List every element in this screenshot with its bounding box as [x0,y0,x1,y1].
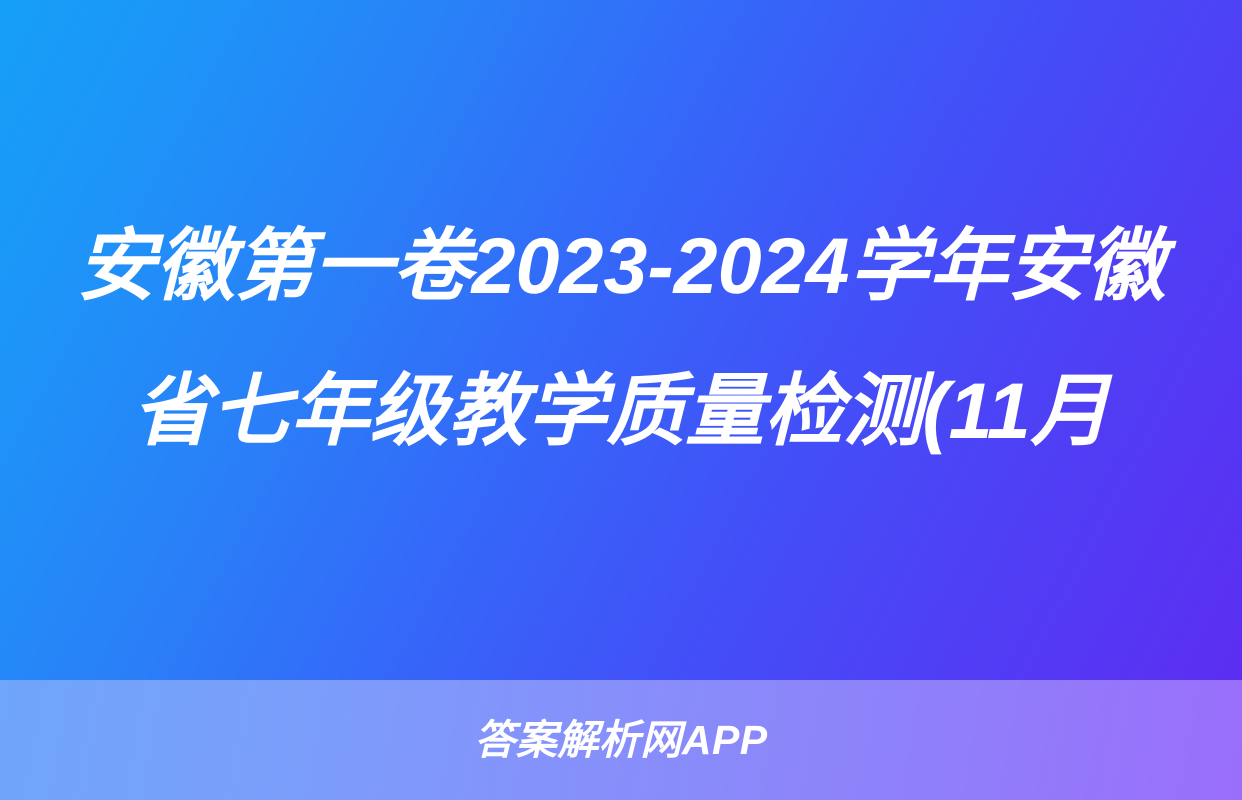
brand-name: 答案解析网APP [474,720,767,761]
footer-bar: 答案解析网APP [0,680,1242,800]
page-title: 安徽第一卷2023-2024学年安徽省七年级教学质量检测(11月 [0,193,1242,483]
hero-banner: 安徽第一卷2023-2024学年安徽省七年级教学质量检测(11月 [0,0,1242,680]
exam-cover-card: 安徽第一卷2023-2024学年安徽省七年级教学质量检测(11月 答案解析网AP… [0,0,1242,800]
